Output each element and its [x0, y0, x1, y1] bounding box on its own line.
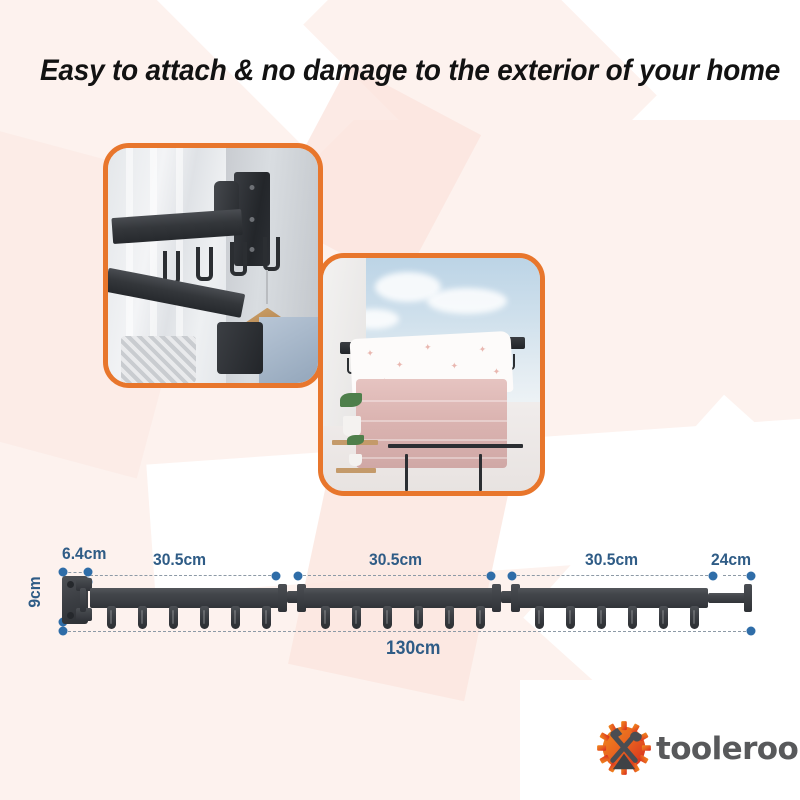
- rack-hook: [414, 606, 423, 629]
- rack-hook: [383, 606, 392, 629]
- screw-hole: [249, 247, 254, 252]
- photo-wall-mount-bracket: [103, 143, 323, 388]
- rack-hook: [476, 606, 485, 629]
- dim-dot-segment-1-end: [272, 572, 281, 581]
- dimension-label-bracket-depth: 6.4cm: [62, 544, 106, 564]
- dim-dot-segment-3-start: [508, 572, 517, 581]
- dimension-label-extension: 24cm: [711, 550, 751, 570]
- dimension-label-segment-1: 30.5cm: [153, 550, 206, 570]
- shoe-on-lower-rack: [121, 336, 197, 383]
- folded-jeans: [259, 317, 318, 383]
- rack-hinge-2-left: [492, 584, 501, 612]
- mount-bolt: [67, 612, 74, 619]
- brand-logo: tooleroo: [596, 718, 786, 778]
- rack-hook: [263, 237, 280, 271]
- rack-hook: [231, 606, 240, 629]
- plant-pot: [349, 454, 362, 466]
- rack-hook: [690, 606, 699, 629]
- dim-dot-segment-3-end: [709, 572, 718, 581]
- rack-hook: [138, 606, 147, 629]
- lower-rack-rail: [388, 444, 523, 448]
- dim-line-segment-1: [90, 575, 276, 576]
- brand-wordmark: tooleroo: [656, 731, 798, 767]
- rack-hook: [262, 606, 271, 629]
- photo-wall-mount-bracket-image: [108, 148, 318, 383]
- screw-hole: [249, 217, 254, 222]
- headline-text: Easy to attach & no damage to the exteri…: [40, 54, 719, 88]
- rack-end-cap: [744, 584, 752, 612]
- rack-hinge-1-left: [278, 584, 287, 612]
- plant-leaves: [347, 435, 364, 445]
- rack-hook: [597, 606, 606, 629]
- lower-hinge-block: [217, 322, 263, 374]
- dim-dot-segment-2-start: [294, 572, 303, 581]
- mount-bolt: [67, 581, 74, 588]
- rack-arm-segment-2: [304, 588, 494, 608]
- rack-hook: [169, 606, 178, 629]
- dim-dot-total-start: [59, 627, 68, 636]
- rack-hook: [566, 606, 575, 629]
- rack-hook: [321, 606, 330, 629]
- rack-arm-segment-1: [90, 588, 280, 608]
- dim-dot-total-end: [747, 627, 756, 636]
- quilt-pink-side: [356, 379, 508, 468]
- hanger-wire: [266, 270, 268, 304]
- rack-hook: [535, 606, 544, 629]
- rack-hook: [628, 606, 637, 629]
- dim-dot-extension-end: [747, 572, 756, 581]
- dim-line-segment-3: [512, 575, 713, 576]
- dimension-diagram: 6.4cm 30.5cm 30.5cm 30.5cm 24cm 9cm 130c…: [0, 520, 800, 680]
- rack-hook: [445, 606, 454, 629]
- rack-hook: [230, 242, 247, 276]
- rack-hook: [200, 606, 209, 629]
- dim-line-segment-2: [298, 575, 491, 576]
- rack-hook: [196, 247, 213, 281]
- rack-hook: [107, 606, 116, 629]
- dimension-label-height: 9cm: [25, 576, 45, 607]
- wooden-shelf: [336, 468, 376, 473]
- dimension-label-segment-2: 30.5cm: [369, 550, 422, 570]
- pivot-post: [80, 588, 86, 612]
- rack-support-leg: [405, 454, 408, 491]
- rack-arm-segment-3: [518, 588, 708, 608]
- rack-hook: [659, 606, 668, 629]
- plant-pot: [343, 416, 361, 436]
- dimension-label-total-length: 130cm: [386, 638, 440, 660]
- infographic-canvas: Easy to attach & no damage to the exteri…: [0, 0, 800, 800]
- rack-hook: [352, 606, 361, 629]
- photo-quilt-drying: ✦ ✦ ✦ ✦ ✦ ✦ ✦ ✦: [318, 253, 545, 496]
- rack-extension-rod: [708, 593, 748, 603]
- photo-quilt-drying-image: ✦ ✦ ✦ ✦ ✦ ✦ ✦ ✦: [323, 258, 540, 491]
- dimension-label-segment-3: 30.5cm: [585, 550, 638, 570]
- dim-line-total-length: [63, 631, 751, 632]
- gear-with-crossed-tools-icon: [596, 720, 652, 776]
- rack-support-leg: [479, 454, 482, 491]
- screw-hole: [249, 185, 254, 190]
- dim-dot-segment-2-end: [487, 572, 496, 581]
